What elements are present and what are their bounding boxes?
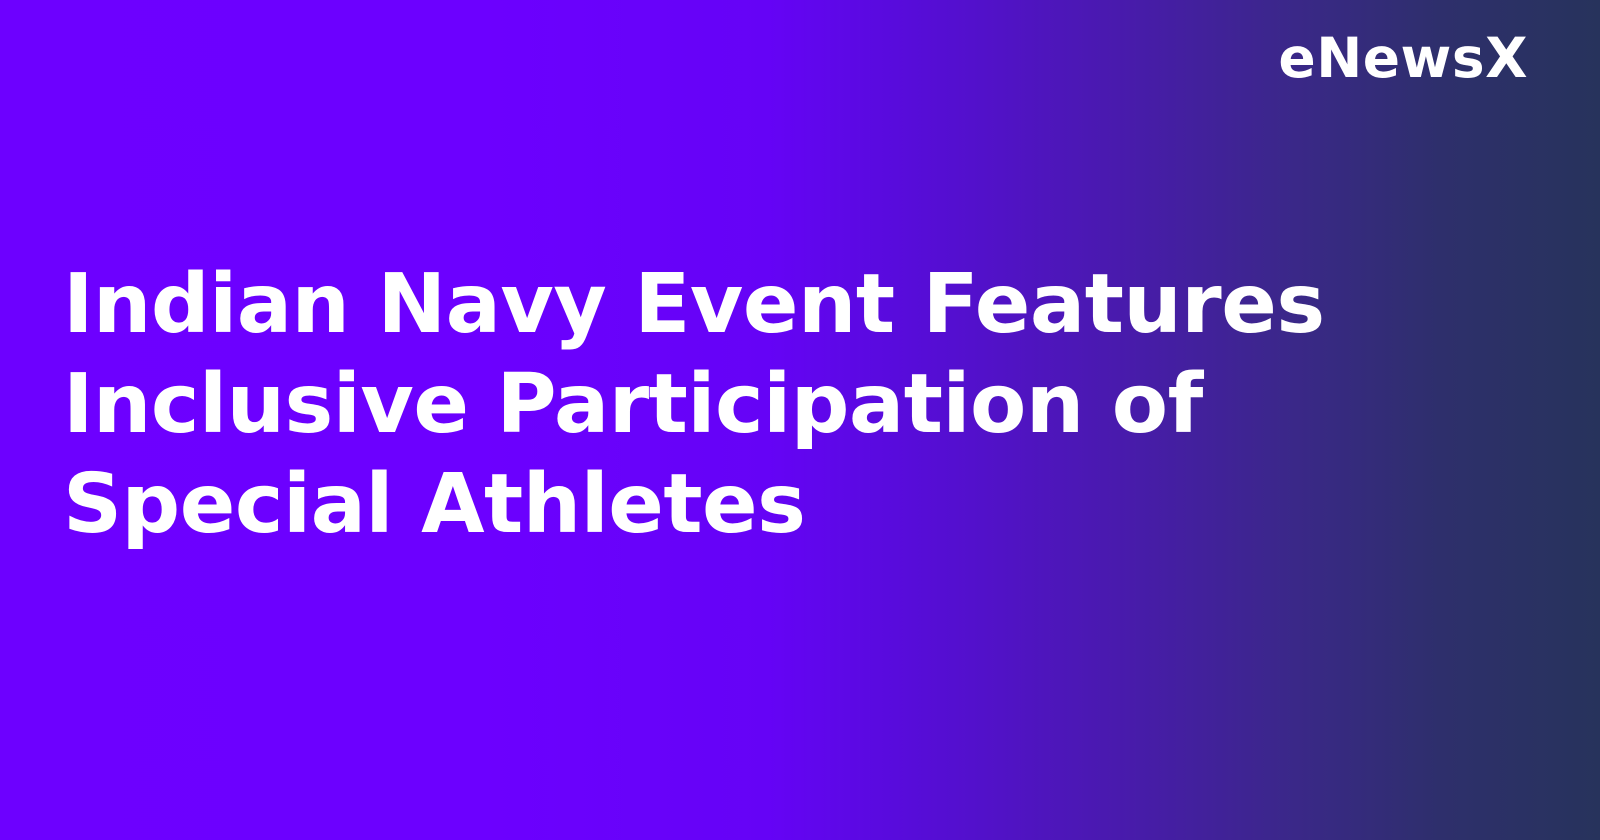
- headline: Indian Navy Event Features Inclusive Par…: [63, 255, 1483, 555]
- headline-line-2: Inclusive Participation of: [63, 355, 1483, 455]
- news-card: eNewsX Indian Navy Event Features Inclus…: [0, 0, 1600, 840]
- brand-logo-text: eNewsX: [1278, 26, 1528, 90]
- headline-line-1: Indian Navy Event Features: [63, 255, 1483, 355]
- brand-logo[interactable]: eNewsX: [1278, 28, 1528, 89]
- headline-line-3: Special Athletes: [63, 455, 1483, 555]
